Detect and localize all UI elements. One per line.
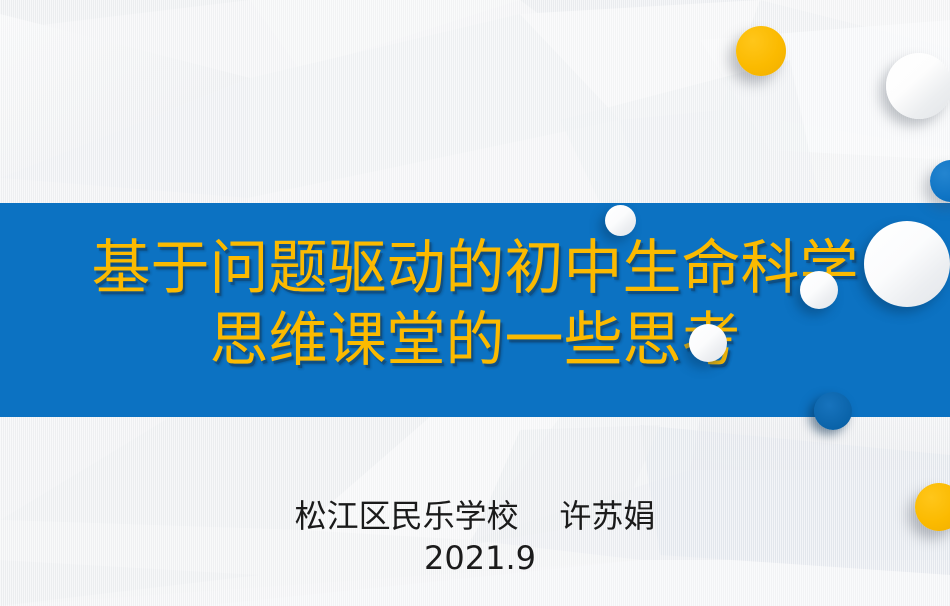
footer-affiliation-author: 松江区民乐学校 许苏娟 <box>0 495 950 537</box>
footer-date: 2021.9 <box>0 537 950 579</box>
dark-blue-circle-band-bottom <box>814 392 852 430</box>
white-circle-band-mid <box>689 324 727 362</box>
yellow-circle-top <box>736 26 786 76</box>
slide-footer: 松江区民乐学校 许苏娟 2021.9 <box>0 495 950 579</box>
title-line-2: 思维课堂的一些思考 <box>0 304 950 376</box>
title-slide: 基于问题驱动的初中生命科学 思维课堂的一些思考 松江区民乐学校 许苏娟 2021… <box>0 0 950 606</box>
white-circle-band-right <box>800 271 838 309</box>
white-circle-top-right <box>886 53 950 119</box>
